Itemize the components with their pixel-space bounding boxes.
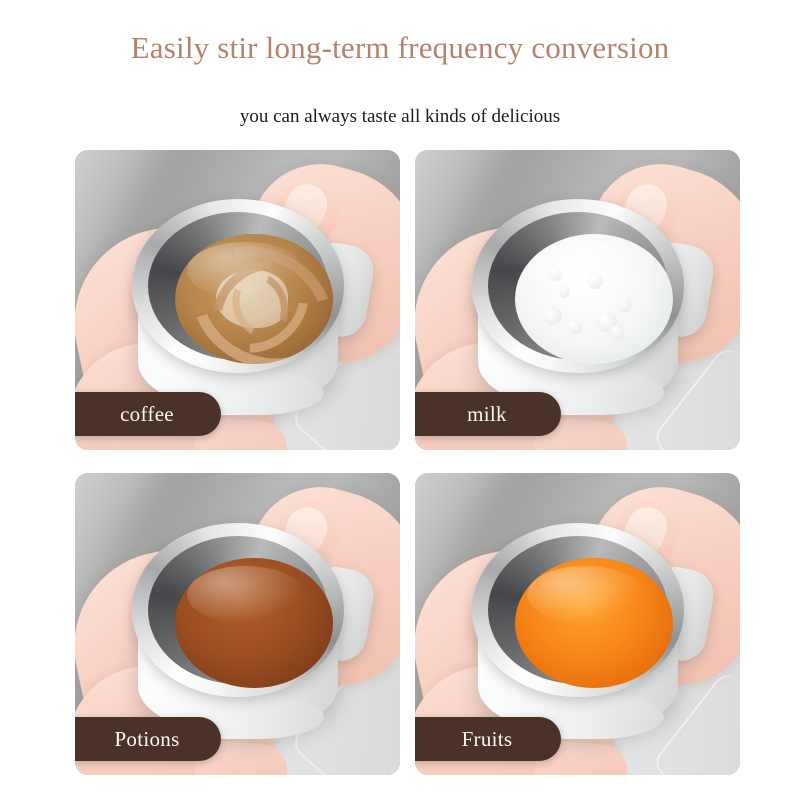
page-title: Easily stir long-term frequency conversi… [0, 28, 800, 68]
page-subtitle: you can always taste all kinds of delici… [0, 104, 800, 130]
stirring-mug [472, 199, 684, 413]
mug-steel-rim [472, 523, 684, 697]
mug-steel-rim [132, 199, 344, 373]
liquid-gloss [527, 566, 644, 623]
mug-inner-rim [488, 212, 668, 360]
tile-label-badge: Potions [75, 717, 221, 761]
tile-label-badge: Fruits [415, 717, 561, 761]
beverage-tile-grid: coffee [75, 150, 725, 775]
liquid-surface-juice [515, 558, 673, 688]
stirring-mug [472, 523, 684, 737]
beverage-tile-potions[interactable]: Potions [75, 473, 400, 775]
liquid-surface-tea [175, 558, 333, 688]
mug-steel-rim [132, 523, 344, 697]
mug-steel-rim [472, 199, 684, 373]
mug-inner-rim [148, 536, 328, 684]
tile-label-badge: coffee [75, 392, 221, 436]
stirring-mug [132, 199, 344, 413]
liquid-gloss [527, 242, 644, 299]
mug-inner-rim [148, 212, 328, 360]
mug-inner-rim [488, 536, 668, 684]
tile-label-badge: milk [415, 392, 561, 436]
beverage-tile-coffee[interactable]: coffee [75, 150, 400, 450]
liquid-surface-milk [515, 234, 673, 364]
beverage-tile-milk[interactable]: milk [415, 150, 740, 450]
liquid-surface-coffee [175, 234, 333, 364]
stirring-mug [132, 523, 344, 737]
beverage-tile-fruits[interactable]: Fruits [415, 473, 740, 775]
liquid-gloss [187, 566, 304, 623]
liquid-gloss [187, 242, 304, 299]
product-feature-banner: Easily stir long-term frequency conversi… [0, 0, 800, 800]
